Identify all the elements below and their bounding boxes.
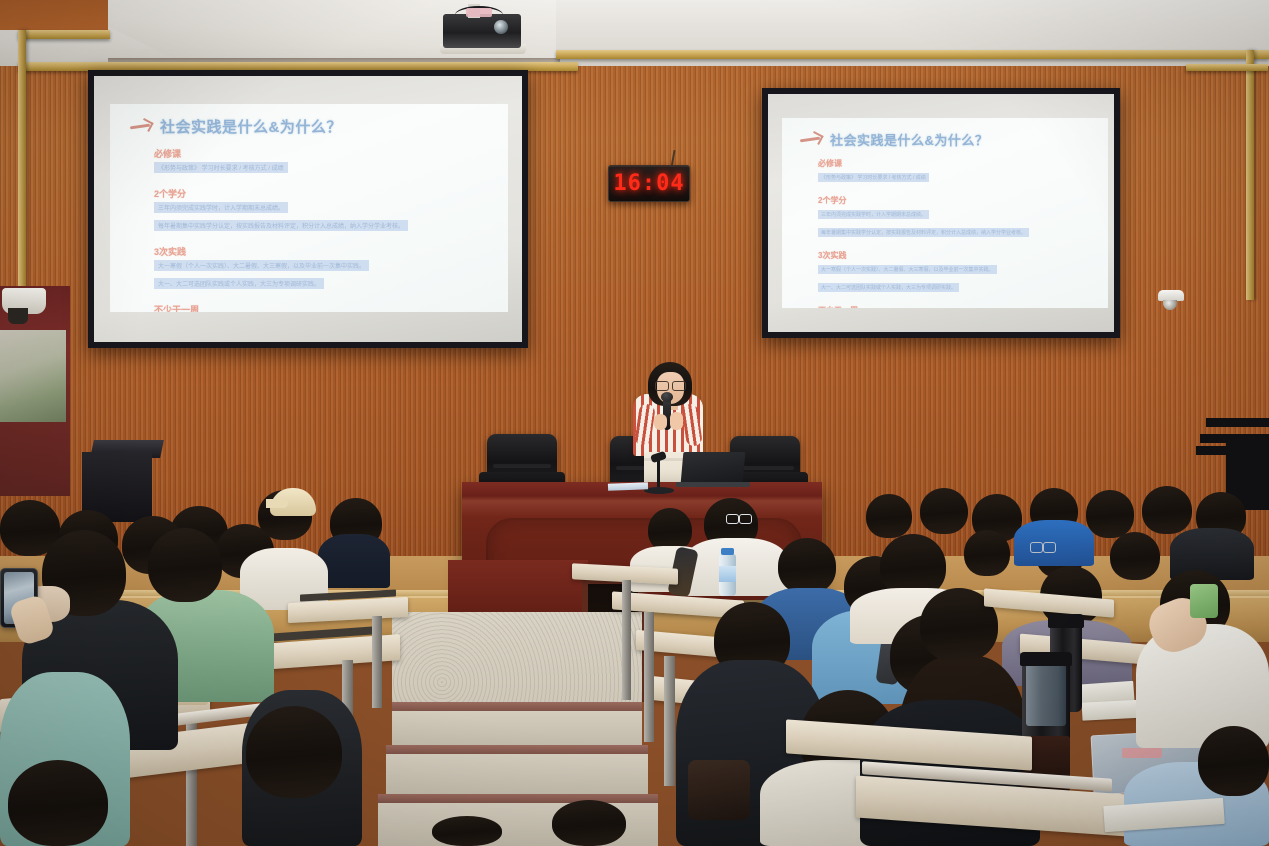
right-screen-surface: 社会实践是什么&为什么？ 必修课 《形势与政策》 学习时长要求 / 考核方式 /… [768,94,1114,332]
student-head [778,538,836,594]
student-head [866,494,912,538]
wall-lamp-arm [8,308,28,324]
glasses-icon [726,514,752,522]
thermos-lid [1048,614,1084,628]
ceiling-left-edge [0,0,108,30]
step-nosing-3 [378,794,658,803]
left-window-glass [0,330,66,422]
glasses-icon [655,381,686,389]
slide-line: 每年暑期集中实践学分认定，按实践报告及材料评定，积分计入总成绩，纳入学分学业考核… [154,220,408,231]
student-head [1110,532,1160,580]
presenter-right-hand [670,412,683,430]
left-slide: 社会实践是什么&为什么？ 必修课 《形势与政策》 学习时长要求 / 考核方式 /… [110,104,508,312]
slide-heading: 必修课 [154,147,508,160]
projector-lens [494,20,508,34]
slide-heading: 不少于一周 [818,305,1108,308]
phone-in-hand [1190,584,1218,618]
thermos-lid-2 [1020,652,1072,666]
presenter-left-hand [654,414,667,430]
laptop-base [676,482,750,487]
wall-clock: 16:04 [608,165,690,202]
slide-heading: 不少于一周 [154,303,508,312]
desk-leg [644,612,654,742]
step-nosing-1 [392,702,642,711]
glasses-icon [1030,542,1056,551]
slide-line: 大一、大二可选团队实践或个人实践，大三为专项调研实践。 [154,278,324,289]
slide-heading: 3次实践 [818,250,1108,261]
desk-leg [372,616,382,708]
slide-line: 《形势与政策》 学习时长要求 / 考核方式 / 成绩 [154,162,288,173]
student-head [1086,490,1134,538]
slide-line: 《形势与政策》 学习时长要求 / 考核方式 / 成绩 [818,173,929,182]
student-head [552,800,626,846]
gold-trim-right-corner [1186,64,1268,71]
student-head [246,706,342,798]
slide-line: 大一寒假（个人一次实践）、大二暑假、大三寒假，以及毕业前一次集中实践。 [154,260,369,271]
slide-heading: 3次实践 [154,245,508,258]
student-shoulders [318,534,390,588]
slide-logo-icon [128,120,154,133]
gold-trim-vertical-left [18,30,26,330]
student-head [8,760,108,846]
student-head [920,488,968,534]
slide-line: 三年内须完成实践学时，计入学期期末总成绩。 [818,210,929,219]
slide-line: 大一寒假（个人一次实践）、大二暑假、大三寒假，以及毕业前一次集中实践。 [818,265,997,274]
gold-trim-horizontal-right [556,50,1269,59]
bottle-cap [721,548,734,555]
lecture-hall-photo: 社会实践是什么&为什么？ 必修课 《形势与政策》 学习时长要求 / 考核方式 /… [0,0,1269,846]
slide-line: 每年暑期集中实践学分认定，按实践报告及材料评定，积分计入总成绩，纳入学分学业考核… [818,228,1029,237]
student-head [964,530,1010,576]
paper-sheet [608,482,648,490]
student-head [1198,726,1269,796]
student-head [432,816,502,846]
slide-heading: 必修课 [818,158,1108,169]
slide-heading: 2个学分 [818,195,1108,206]
thermos-glass-window [1026,664,1066,726]
projector-label-tag [466,8,492,17]
desk-leg [622,580,631,700]
slide-title: 社会实践是什么&为什么？ [830,130,988,149]
student-head [148,528,222,602]
bottle-label [719,566,736,582]
slide-logo-icon [798,133,824,146]
microphone-head-icon [661,392,673,402]
desk-microphone-base [644,487,674,494]
left-screen-surface: 社会实践是什么&为什么？ 必修课 《形势与政策》 学习时长要求 / 考核方式 /… [94,76,522,342]
slide-line: 大一、大二可选团队实践或个人实践，大三为专项调研实践。 [818,283,959,292]
laptop [681,452,746,484]
student-shoulders [684,538,788,596]
ceiling-soffit-right [556,0,1269,52]
left-projection-screen: 社会实践是什么&为什么？ 必修课 《形势与政策》 学习时长要求 / 考核方式 /… [88,70,528,348]
slide-line: 三年内须完成实践学时，计入学期期末总成绩。 [154,202,288,213]
backpack [688,760,750,820]
step-tread-2 [386,754,648,794]
step-nosing-2 [386,745,648,754]
gold-trim-vertical-right [1246,50,1254,300]
folder-label [1122,748,1162,758]
clock-time: 16:04 [613,171,684,196]
gold-trim-upper-left [18,30,110,39]
slide-title: 社会实践是什么&为什么？ [160,116,342,137]
right-slide: 社会实践是什么&为什么？ 必修课 《形势与政策》 学习时长要求 / 考核方式 /… [782,118,1108,308]
slide-heading: 2个学分 [154,187,508,200]
desk-leg [664,656,675,786]
right-projection-screen: 社会实践是什么&为什么？ 必修课 《形势与政策》 学习时长要求 / 考核方式 /… [762,88,1120,338]
student-head [1142,486,1192,534]
cap-brim [266,499,288,508]
step-tread-1 [392,711,642,745]
